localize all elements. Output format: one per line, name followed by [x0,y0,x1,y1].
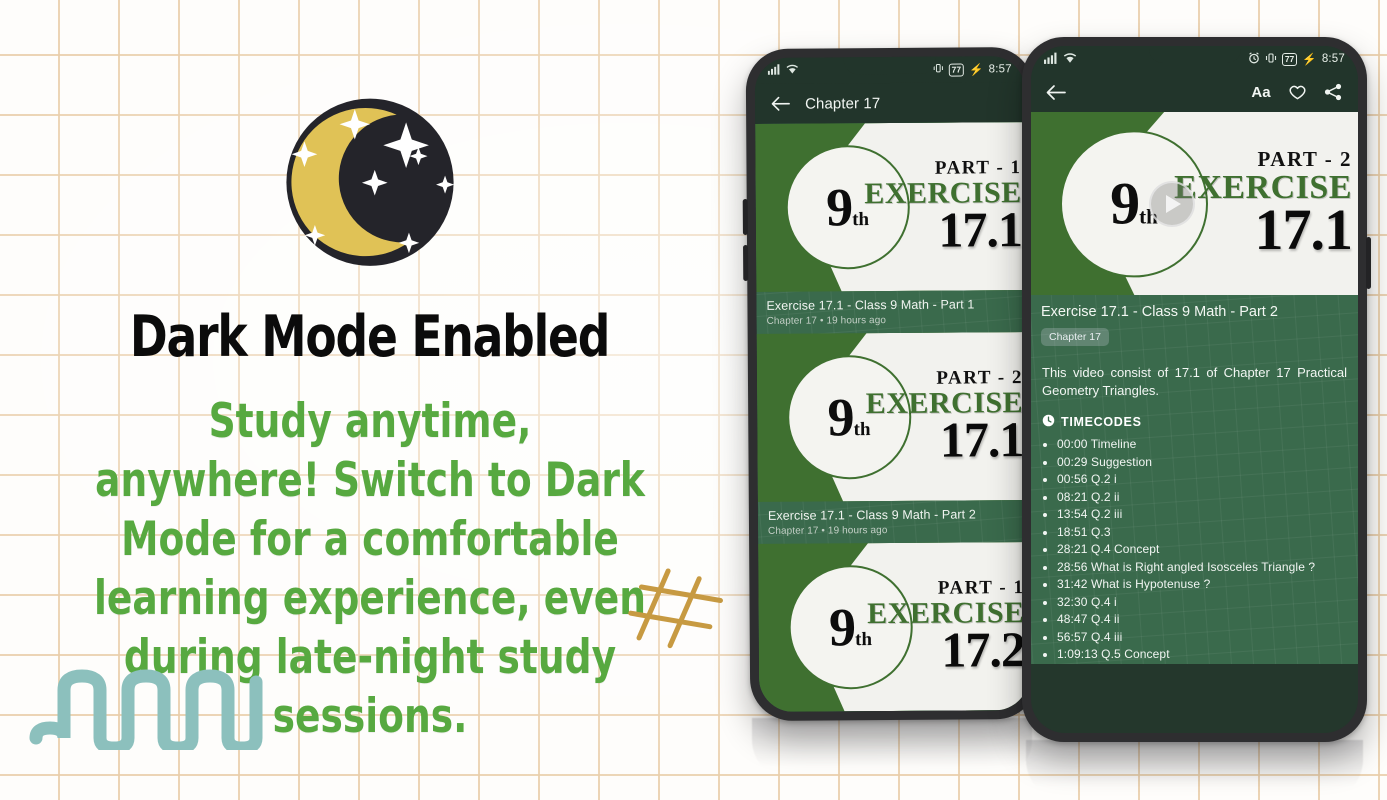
play-triangle [1166,195,1181,213]
list-item[interactable]: 00:29 Suggestion [1057,454,1347,472]
share-icon[interactable] [1322,81,1344,103]
thumb-number: 17.1 [864,204,1022,255]
hash-decoration-icon [625,555,735,670]
video-detail-panel: Exercise 17.1 - Class 9 Math - Part 2 Ch… [1031,295,1358,664]
back-arrow-icon[interactable] [769,93,791,115]
meta-separator: • [820,315,824,326]
timecodes-list: 00:00 Timeline 00:29 Suggestion 00:56 Q.… [1031,432,1358,664]
wifi-icon [1063,52,1077,67]
thumb-grade: 9 [829,603,854,652]
chapter-chip[interactable]: Chapter 17 [1041,328,1109,346]
list-item[interactable]: 48:47 Q.4 ii [1057,611,1347,629]
list-item-chapter: Chapter 17 [767,316,818,327]
list-item[interactable]: 9th PART - 1 EXERCISE 17.2 [758,542,1029,712]
charging-bolt-icon: ⚡ [1302,52,1317,66]
list-item[interactable]: 00:56 Q.2 i [1057,471,1347,489]
font-size-button[interactable]: Aa [1250,81,1272,103]
phone-back-screen: 77 ⚡ 8:57 Chapter 17 9th [755,56,1030,712]
list-item[interactable]: 28:56 What is Right angled Isosceles Tri… [1057,559,1347,577]
video-thumbnail[interactable]: 9th PART - 2 EXERCISE 17.1 [757,332,1028,502]
thumb-grade: 9 [1110,176,1138,230]
clock-icon [1042,414,1055,430]
squiggle-decoration-icon [28,660,300,755]
thumb-number: 17.1 [1174,201,1352,259]
thumb-grade: 9 [827,393,852,442]
power-button[interactable] [1366,237,1371,289]
timecodes-heading: TIMECODES [1061,415,1142,429]
thumb-part: PART - 1 [867,578,1025,598]
list-item-age: 19 hours ago [828,525,888,536]
thumb-part: PART - 2 [1174,149,1352,170]
app-bar-back: Chapter 17 [755,82,1025,124]
phone-front: 77 ⚡ 8:57 Aa 9th PART - [1022,37,1367,742]
list-item[interactable]: 32:30 Q.4 i [1057,594,1347,612]
thumb-grade: 9 [826,183,851,232]
heart-icon[interactable] [1286,81,1308,103]
list-item-chapter: Chapter 17 [768,526,819,537]
back-arrow-icon[interactable] [1045,81,1067,103]
list-item-age: 19 hours ago [826,315,886,326]
thumb-text-block: PART - 1 EXERCISE 17.2 [867,578,1025,675]
camera-notch [1149,46,1241,63]
signal-bars-icon [1044,52,1058,67]
phone-back-reflection [752,718,1032,780]
wifi-icon [786,64,799,78]
volume-button[interactable] [743,199,748,235]
list-item-meta: Chapter 17 • 19 hours ago [757,311,1027,334]
app-bar-front: Aa [1031,72,1358,112]
thumb-text-block: PART - 2 EXERCISE 17.1 [866,368,1024,465]
phone-back-list: 9th PART - 1 EXERCISE 17.1 Exercise 17.1… [755,122,1029,712]
video-description: This video consist of 17.1 of Chapter 17… [1031,346,1358,400]
thumb-text-block: PART - 2 EXERCISE 17.1 [1174,149,1352,259]
signal-bars-icon [768,64,781,78]
battery-indicator: 77 [1282,53,1297,66]
page-title: Dark Mode Enabled [130,308,609,368]
charging-bolt-icon: ⚡ [969,62,984,76]
list-item-meta: Chapter 17 • 19 hours ago [758,521,1028,544]
battery-indicator: 77 [949,63,965,76]
clock-time: 8:57 [1322,53,1345,65]
volume-down-button[interactable] [743,245,748,281]
list-item[interactable]: 1:09:13 Q.5 Concept [1057,646,1347,664]
list-item[interactable]: 9th PART - 1 EXERCISE 17.1 Exercise 17.1… [755,122,1026,334]
vibrate-icon [1265,52,1277,67]
video-player[interactable]: 9th PART - 2 EXERCISE 17.1 [1031,112,1358,295]
list-item[interactable]: 31:42 What is Hypotenuse ? [1057,576,1347,594]
list-item[interactable]: 18:51 Q.3 [1057,524,1347,542]
status-bar-front: 77 ⚡ 8:57 [1031,46,1358,72]
alarm-icon [1248,52,1260,67]
list-item[interactable]: 28:21 Q.4 Concept [1057,541,1347,559]
video-thumbnail[interactable]: 9th PART - 1 EXERCISE 17.2 [758,542,1029,712]
list-item[interactable]: 9th PART - 2 EXERCISE 17.1 Exercise 17.1… [757,332,1028,544]
crescent-moon-stars-icon [264,92,476,282]
video-title: Exercise 17.1 - Class 9 Math - Part 2 [1031,295,1358,320]
video-thumbnail[interactable]: 9th PART - 1 EXERCISE 17.1 [755,122,1026,292]
list-item-title: Exercise 17.1 - Class 9 Math - Part 2 [758,500,1028,523]
thumb-number: 17.2 [867,624,1025,675]
thumb-text-block: PART - 1 EXERCISE 17.1 [864,158,1022,255]
thumb-part: PART - 2 [866,368,1024,388]
list-item[interactable]: 00:00 Timeline [1057,436,1347,454]
status-bar-back: 77 ⚡ 8:57 [755,56,1025,84]
timecodes-header: TIMECODES [1031,400,1358,432]
thumb-number: 17.1 [866,414,1024,465]
meta-separator: • [821,525,825,536]
camera-notch [844,56,936,74]
list-item-title: Exercise 17.1 - Class 9 Math - Part 1 [756,290,1026,313]
play-button-icon[interactable] [1149,181,1195,227]
list-item[interactable]: 56:57 Q.4 iii [1057,629,1347,647]
list-item[interactable]: 08:21 Q.2 ii [1057,489,1347,507]
clock-time: 8:57 [989,63,1012,75]
phone-back: 77 ⚡ 8:57 Chapter 17 9th [746,47,1039,721]
phone-front-screen: 77 ⚡ 8:57 Aa 9th PART - [1031,46,1358,733]
app-bar-title: Chapter 17 [805,95,880,113]
phone-front-reflection [1026,740,1363,800]
thumb-part: PART - 1 [864,158,1022,178]
list-item[interactable]: 13:54 Q.2 iii [1057,506,1347,524]
